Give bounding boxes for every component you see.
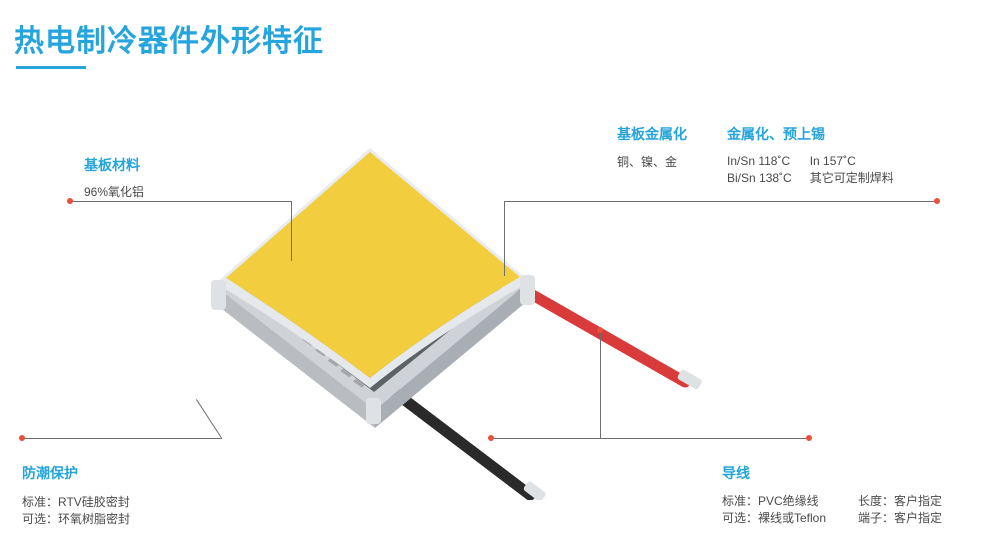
label-metallization-pretin-col1: In/Sn 118˚C Bi/Sn 138˚C: [727, 153, 792, 187]
label-moisture-protection: 防潮保护 标准：RTV硅胶密封 可选：环氧树脂密封: [22, 463, 130, 527]
label-metallization-pretin-c1-l1: In/Sn 118˚C: [727, 153, 792, 170]
label-metallization-pretin-c2-l2: 其它可定制焊料: [810, 170, 894, 187]
thermoelectric-cooler-illustration: [180, 120, 740, 500]
callout-dot-lead-wire: [806, 435, 812, 441]
label-substrate-material-head: 基板材料: [84, 155, 144, 175]
callout-line-substrate-material: [70, 201, 292, 202]
black-lead-wire: [385, 385, 547, 500]
callout-dot-substrate-material: [67, 198, 73, 204]
callout-line-metallization-v: [504, 201, 505, 276]
label-lead-wire-c2-l1: 长度：客户指定: [858, 493, 942, 510]
page-title: 热电制冷器件外形特征: [14, 16, 324, 60]
label-substrate-metallization: 基板金属化 铜、镍、金: [617, 124, 687, 170]
red-lead-wire: [510, 282, 703, 390]
callout-dot-red-wire: [597, 327, 603, 333]
label-lead-wire-c2-l2: 端子：客户指定: [858, 510, 942, 527]
label-moisture-protection-line1: 标准：RTV硅胶密封: [22, 493, 130, 510]
label-substrate-metallization-head: 基板金属化: [617, 124, 687, 144]
label-moisture-protection-line2: 可选：环氧树脂密封: [22, 510, 130, 527]
callout-line-lead-wire: [490, 438, 810, 439]
label-metallization-pretin-head: 金属化、预上锡: [727, 124, 894, 144]
callout-line-moisture: [22, 438, 222, 439]
top-ceramic-plate: [216, 148, 528, 388]
label-substrate-material-line1: 96%氧化铝: [84, 183, 144, 200]
label-metallization-pretin-col2: In 157˚C 其它可定制焊料: [810, 153, 894, 187]
label-lead-wire-c1-l2: 可选：裸线或Teflon: [722, 510, 826, 527]
label-moisture-protection-head: 防潮保护: [22, 463, 130, 483]
callout-line-red-wire-v: [600, 330, 601, 438]
callout-dot-moisture: [19, 435, 25, 441]
label-substrate-metallization-line1: 铜、镍、金: [617, 153, 687, 170]
label-lead-wire-col2: 长度：客户指定 端子：客户指定: [858, 493, 942, 527]
callout-dot-black-wire: [488, 435, 494, 441]
callout-line-substrate-material-v: [291, 201, 292, 261]
title-underline: [16, 66, 86, 69]
diagram-page: 热电制冷器件外形特征: [0, 0, 999, 544]
label-substrate-material: 基板材料 96%氧化铝: [84, 155, 144, 200]
callout-line-metallization: [504, 201, 937, 202]
label-lead-wire-head: 导线: [722, 463, 942, 483]
label-metallization-pretin: 金属化、预上锡 In/Sn 118˚C Bi/Sn 138˚C In 157˚C…: [727, 124, 894, 187]
label-lead-wire-col1: 标准：PVC绝缘线 可选：裸线或Teflon: [722, 493, 826, 527]
callout-dot-metallization: [934, 198, 940, 204]
label-metallization-pretin-c2-l1: In 157˚C: [810, 153, 894, 170]
label-lead-wire-c1-l1: 标准：PVC绝缘线: [722, 493, 826, 510]
label-lead-wire: 导线 标准：PVC绝缘线 可选：裸线或Teflon 长度：客户指定 端子：客户指…: [722, 463, 942, 527]
label-metallization-pretin-c1-l2: Bi/Sn 138˚C: [727, 170, 792, 187]
